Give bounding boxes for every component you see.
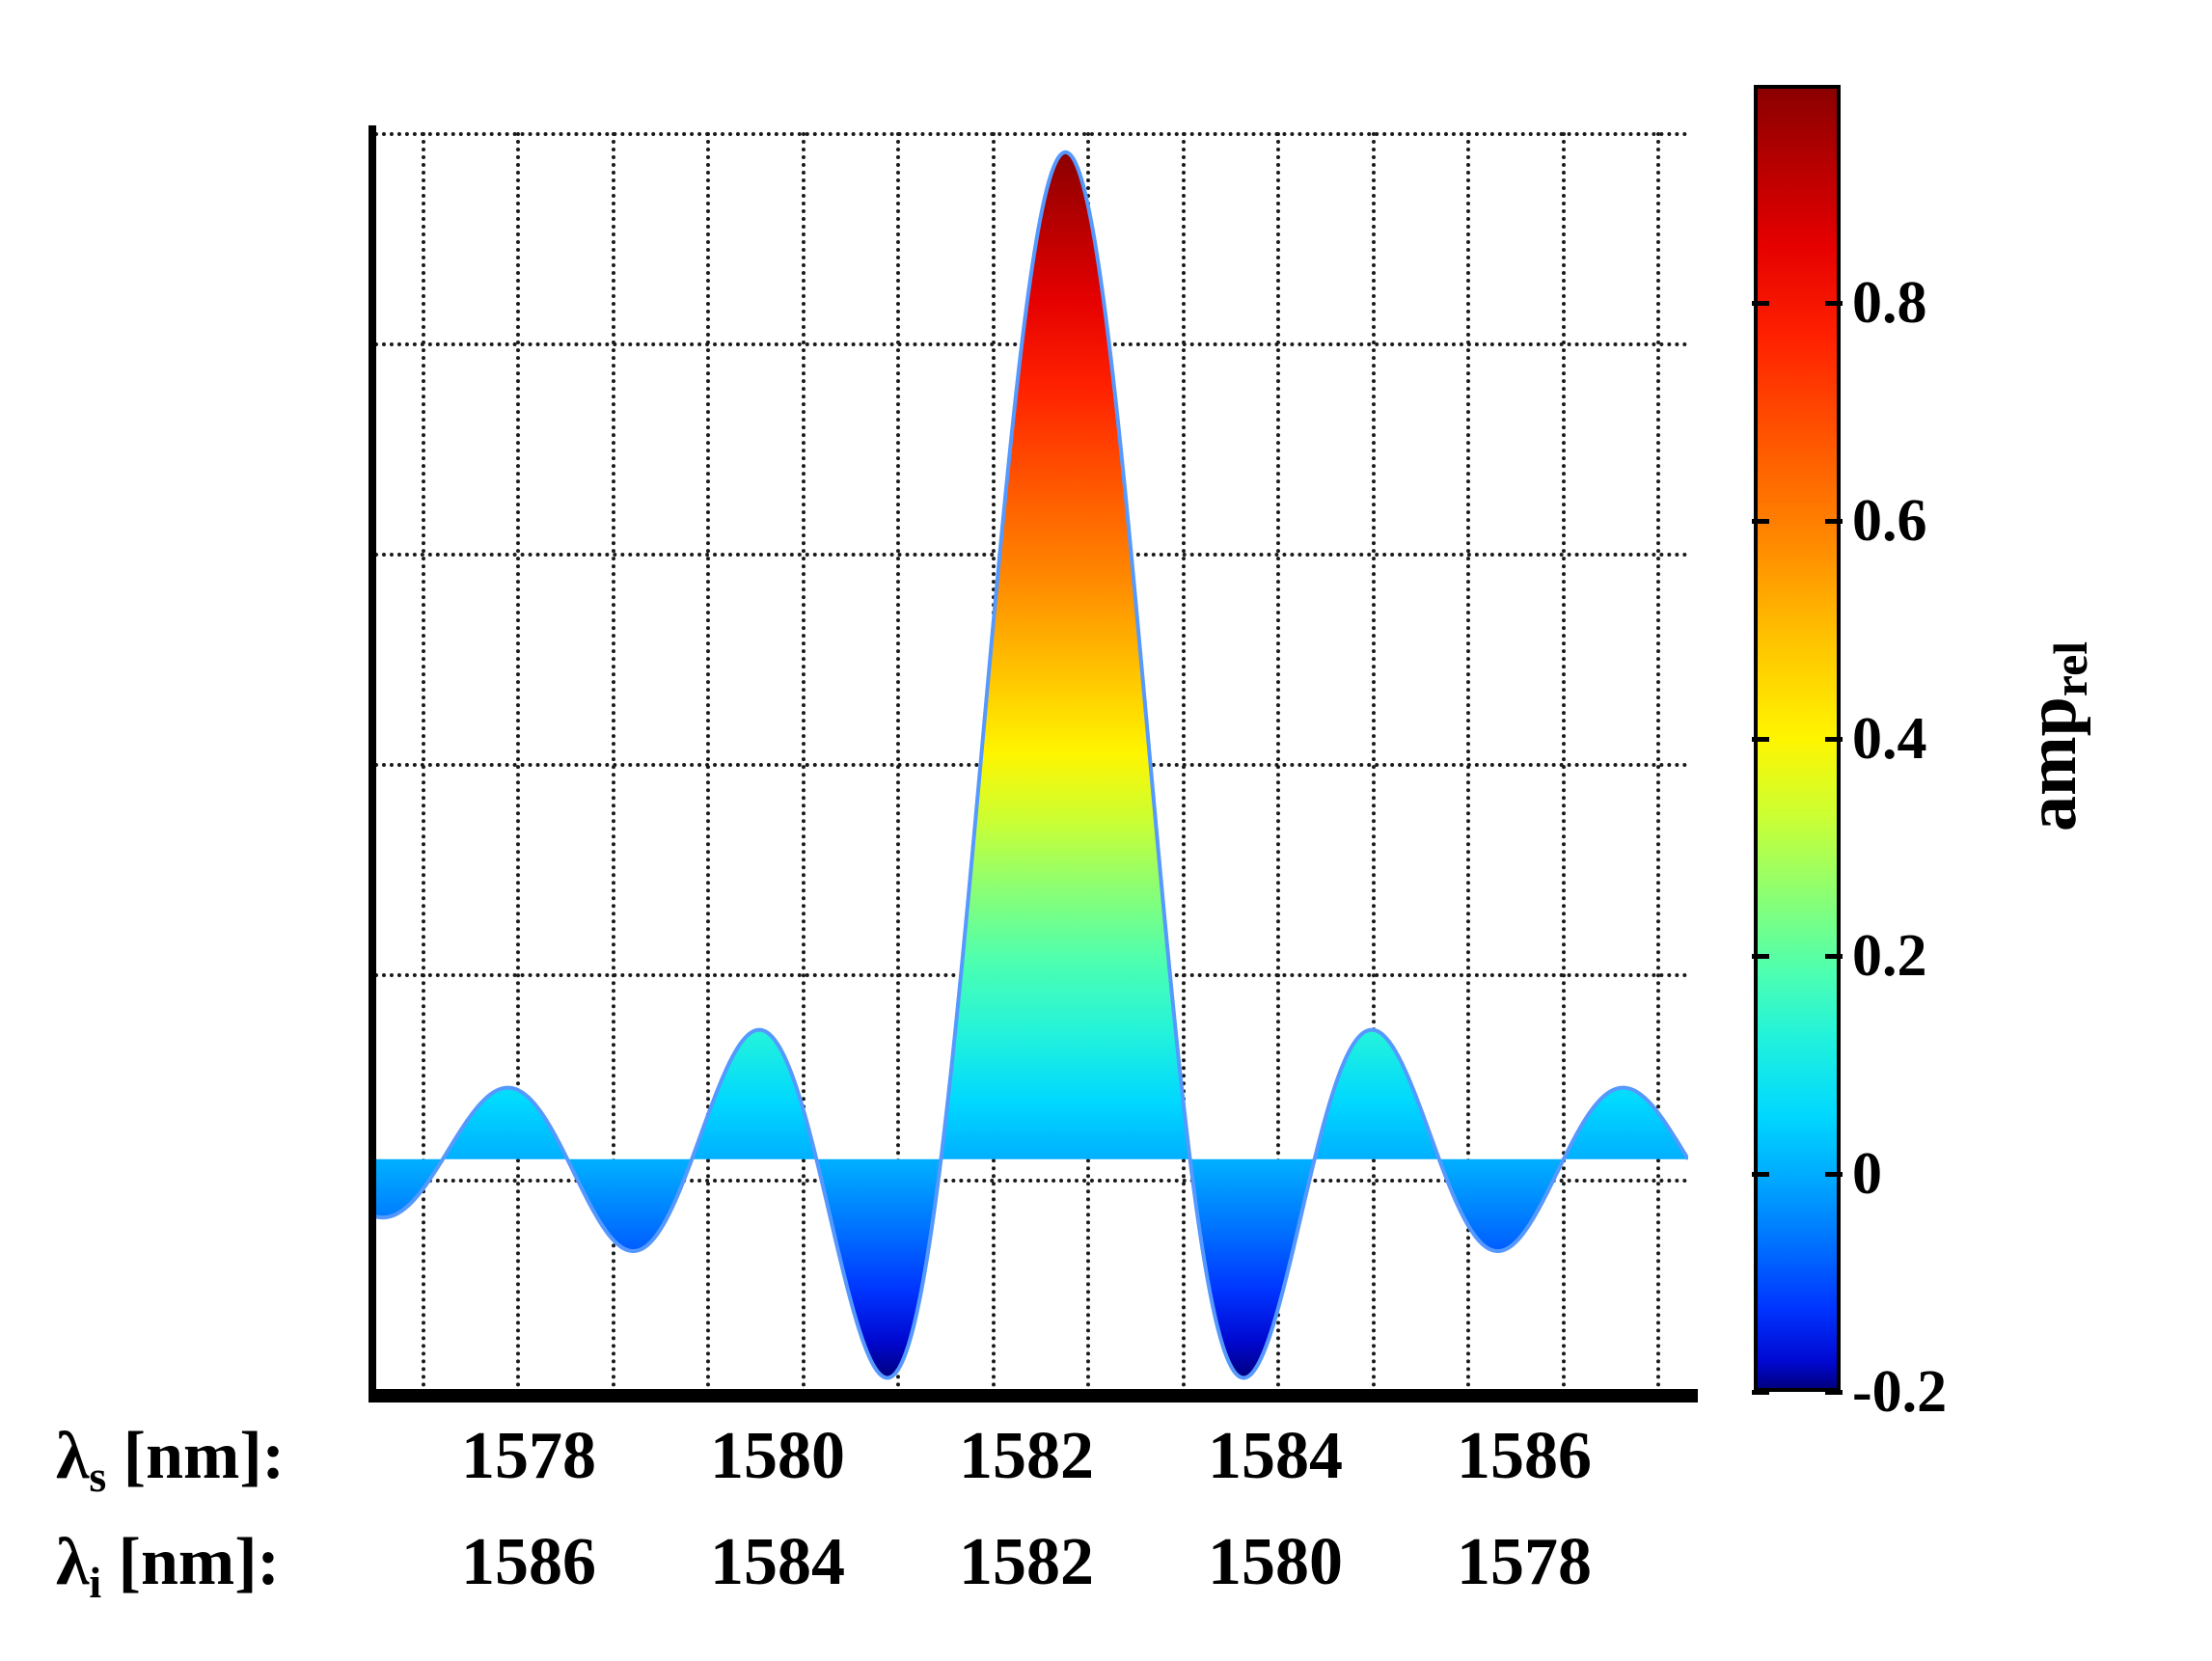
idler-axis-unit: [nm]: xyxy=(101,1525,280,1599)
signal-tick-label: 1586 xyxy=(1457,1418,1592,1495)
colorbar-tick-label: 0.6 xyxy=(1852,491,1927,551)
colorbar-title-main: amp xyxy=(2012,696,2091,831)
lambda-symbol-signal: λ xyxy=(56,1419,89,1493)
idler-tick-label: 1586 xyxy=(461,1524,596,1601)
signal-tick-label: 1578 xyxy=(461,1418,596,1495)
colorbar-tick-mark xyxy=(1825,1172,1843,1177)
colorbar-tick-mark xyxy=(1752,1390,1769,1395)
sinc-filled-area xyxy=(374,152,1688,1378)
figure-canvas: 0.80.60.40.20-0.2 amprel λs [nm]: 157815… xyxy=(0,0,2212,1661)
colorbar-tick-label: 0.8 xyxy=(1852,273,1927,333)
idler-axis-label: λi [nm]: xyxy=(56,1524,280,1601)
signal-tick-label: 1580 xyxy=(710,1418,845,1495)
signal-tick-label: 1582 xyxy=(959,1418,1094,1495)
colorbar-tick-mark xyxy=(1752,737,1769,742)
idler-tick-label: 1584 xyxy=(710,1524,845,1601)
idler-tick-label: 1578 xyxy=(1457,1524,1592,1601)
signal-axis-unit: [nm]: xyxy=(106,1419,285,1493)
axis-bottom-spine xyxy=(369,1389,1698,1402)
lambda-symbol-idler: λ xyxy=(56,1525,89,1599)
colorbar-tick-mark xyxy=(1752,301,1769,306)
lambda-subscript-idler: i xyxy=(89,1558,101,1607)
colorbar-tick-mark xyxy=(1752,954,1769,959)
colorbar-title: amprel xyxy=(2011,641,2093,831)
colorbar-tick-mark xyxy=(1825,519,1843,524)
colorbar-title-sub: rel xyxy=(2043,641,2097,696)
idler-tick-label: 1582 xyxy=(959,1524,1094,1601)
colorbar-tick-label: 0.4 xyxy=(1852,709,1927,769)
colorbar-tick-mark xyxy=(1752,519,1769,524)
colorbar-tick-label: 0.2 xyxy=(1852,926,1927,986)
idler-wavelength-axis-row: λi [nm]: 15861584158215801578 xyxy=(0,1524,1736,1607)
idler-tick-label: 1580 xyxy=(1208,1524,1343,1601)
colorbar-tick-mark xyxy=(1825,737,1843,742)
colorbar-tick-mark xyxy=(1825,954,1843,959)
lambda-subscript-signal: s xyxy=(89,1452,106,1501)
colorbar-tick-label: -0.2 xyxy=(1852,1362,1947,1422)
colorbar-tick-mark xyxy=(1825,301,1843,306)
colorbar-tick-mark xyxy=(1825,1390,1843,1395)
axis-left-spine xyxy=(369,125,376,1402)
signal-wavelength-axis-row: λs [nm]: 15781580158215841586 xyxy=(0,1418,1736,1501)
signal-tick-label: 1584 xyxy=(1208,1418,1343,1495)
colorbar: 0.80.60.40.20-0.2 xyxy=(1754,85,1841,1392)
signal-axis-label: λs [nm]: xyxy=(56,1418,285,1495)
colorbar-tick-label: 0 xyxy=(1852,1144,1882,1204)
colorbar-tick-mark xyxy=(1752,1172,1769,1177)
sinc-amplitude-curve xyxy=(374,132,1688,1396)
